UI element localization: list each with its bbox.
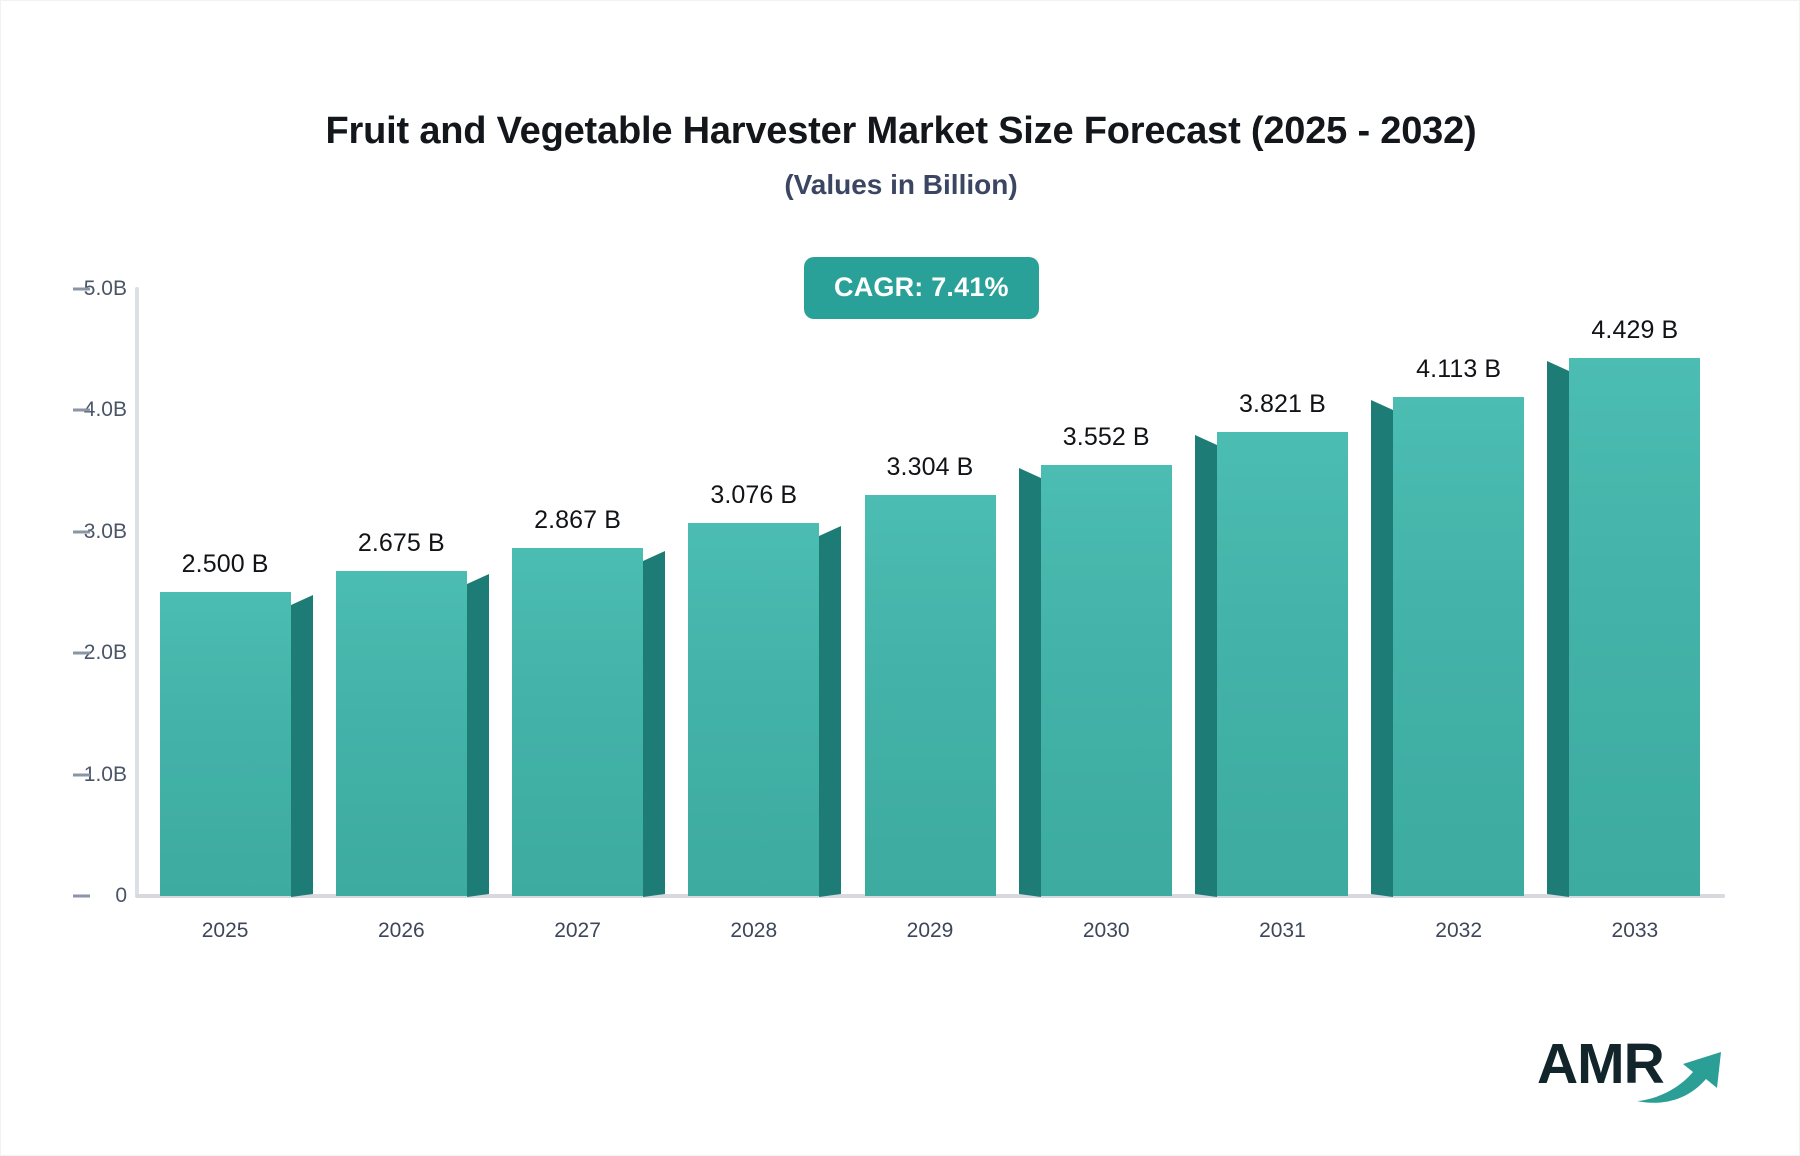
- bar-item[interactable]: 4.429 B2033: [1, 1, 1800, 1156]
- chart-canvas: Fruit and Vegetable Harvester Market Siz…: [0, 0, 1800, 1156]
- amr-logo: AMR: [1537, 1036, 1727, 1112]
- bar-front-face: [1569, 358, 1700, 896]
- bar-side-face: [1547, 361, 1569, 897]
- trending-up-arrow-icon: [1635, 1044, 1731, 1106]
- bar-value-label: 4.429 B: [1525, 316, 1745, 345]
- bar-series: 2.500 B20252.675 B20262.867 B20273.076 B…: [1, 1, 1800, 1156]
- x-axis-category-label: 2033: [1545, 919, 1725, 943]
